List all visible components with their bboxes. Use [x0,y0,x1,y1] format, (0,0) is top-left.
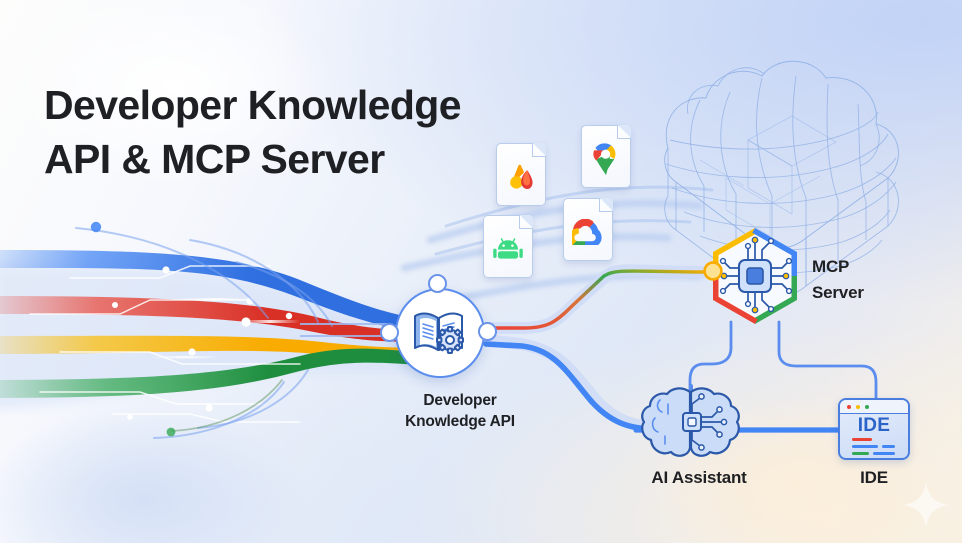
ide-screen-text: IDE [840,415,908,437]
code-line-4 [852,452,869,455]
ai-assistant-label: AI Assistant [608,468,790,488]
code-line-5 [873,452,895,455]
brain-circuit-icon [642,388,739,455]
code-line-1 [852,438,872,441]
code-line-2 [852,445,878,448]
ide-node[interactable]: IDE [838,398,910,460]
code-line-3 [882,445,895,448]
four-point-star-icon [903,482,949,528]
illustration-canvas: Developer Knowledge API & MCP Server [0,0,962,543]
ai-assistant-node[interactable] [0,0,962,543]
